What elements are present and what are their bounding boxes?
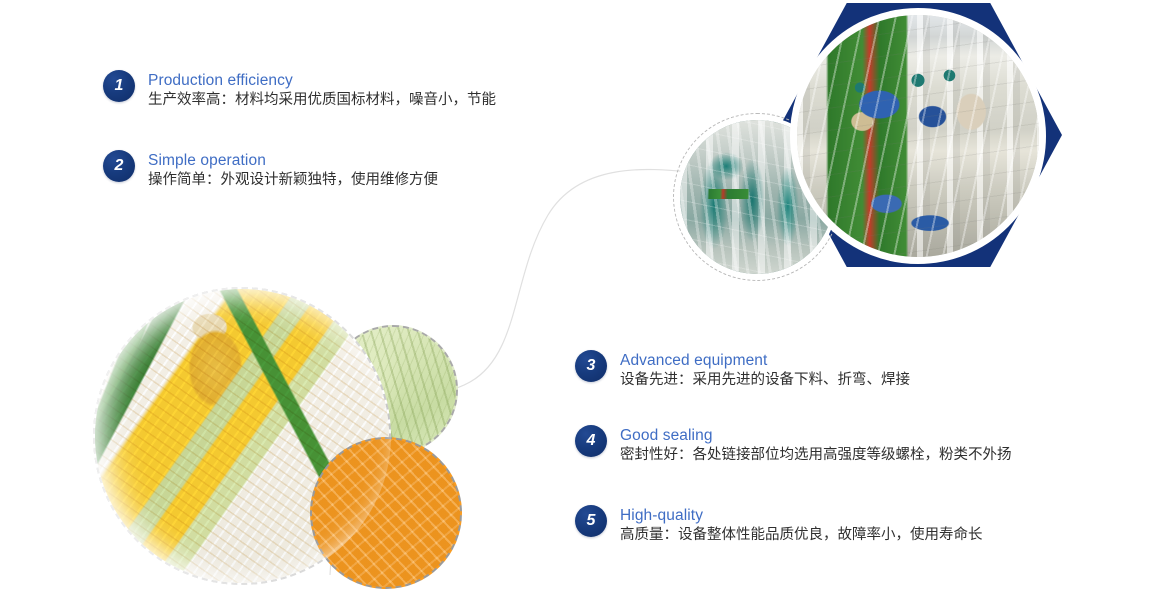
feature-text-1: Production efficiency 生产效率高：材料均采用优质国标材料，… bbox=[148, 70, 496, 111]
feature-title-1: Production efficiency bbox=[148, 71, 496, 90]
feature-text-4: Good sealing 密封性好：各处链接部位均选用高强度等级螺栓，粉类不外扬 bbox=[620, 425, 1012, 466]
feature-text-2: Simple operation 操作简单：外观设计新颖独特，使用维修方便 bbox=[148, 150, 438, 191]
flour-mill-plant-photo bbox=[790, 8, 1046, 264]
feature-desc-1: 生产效率高：材料均采用优质国标材料，噪音小，节能 bbox=[148, 90, 496, 111]
feature-title-5: High-quality bbox=[620, 506, 983, 525]
feature-desc-2: 操作简单：外观设计新颖独特，使用维修方便 bbox=[148, 170, 438, 191]
feature-item-5[interactable]: 5 High-quality 高质量：设备整体性能品质优良，故障率小，使用寿命长 bbox=[575, 505, 983, 546]
feature-number-badge-5: 5 bbox=[575, 505, 607, 537]
feature-text-3: Advanced equipment 设备先进：采用先进的设备下料、折弯、焊接 bbox=[620, 350, 910, 391]
feature-item-3[interactable]: 3 Advanced equipment 设备先进：采用先进的设备下料、折弯、焊… bbox=[575, 350, 910, 391]
feature-number-badge-4: 4 bbox=[575, 425, 607, 457]
corn-kernels-photo bbox=[310, 437, 462, 589]
feature-item-4[interactable]: 4 Good sealing 密封性好：各处链接部位均选用高强度等级螺栓，粉类不… bbox=[575, 425, 1012, 466]
feature-number-badge-3: 3 bbox=[575, 350, 607, 382]
feature-desc-5: 高质量：设备整体性能品质优良，故障率小，使用寿命长 bbox=[620, 525, 983, 546]
feature-infographic: 1 Production efficiency 生产效率高：材料均采用优质国标材… bbox=[0, 0, 1154, 591]
feature-number-badge-2: 2 bbox=[103, 150, 135, 182]
feature-title-4: Good sealing bbox=[620, 426, 1012, 445]
feature-desc-3: 设备先进：采用先进的设备下料、折弯、焊接 bbox=[620, 370, 910, 391]
feature-number-badge-1: 1 bbox=[103, 70, 135, 102]
feature-item-2[interactable]: 2 Simple operation 操作简单：外观设计新颖独特，使用维修方便 bbox=[103, 150, 438, 191]
feature-title-3: Advanced equipment bbox=[620, 351, 910, 370]
feature-desc-4: 密封性好：各处链接部位均选用高强度等级螺栓，粉类不外扬 bbox=[620, 445, 1012, 466]
feature-item-1[interactable]: 1 Production efficiency 生产效率高：材料均采用优质国标材… bbox=[103, 70, 496, 111]
feature-text-5: High-quality 高质量：设备整体性能品质优良，故障率小，使用寿命长 bbox=[620, 505, 983, 546]
feature-title-2: Simple operation bbox=[148, 151, 438, 170]
